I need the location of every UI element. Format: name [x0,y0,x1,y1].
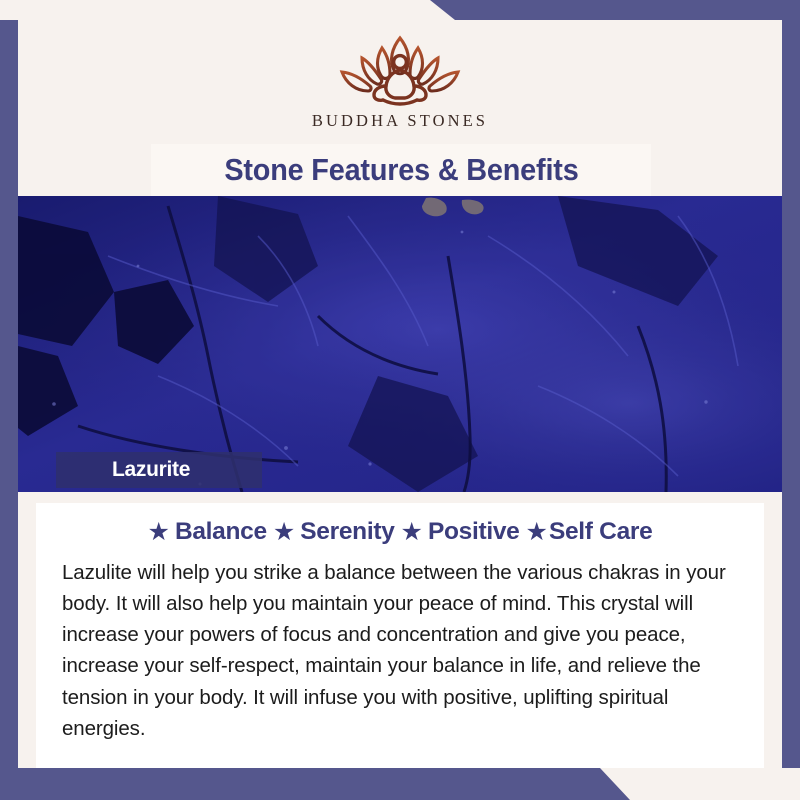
lazurite-texture-graphic [18,196,782,492]
keyword-list: ★ Balance ★ Serenity ★ Positive ★ Self C… [46,518,754,546]
page-title: Stone Features & Benefits [224,152,578,188]
corner-decoration-bottom-left [0,768,800,800]
stone-name-ribbon: Lazurite [56,452,262,488]
keyword-label: Positive [428,518,520,546]
keyword-item-self-care: ★ Self Care [526,518,653,546]
keyword-label: Balance [175,518,267,546]
frame-border-right [782,20,800,768]
keyword-item-balance: ★ Balance [148,518,267,546]
brand-wordmark: BUDDHA STONES [312,111,488,131]
star-icon: ★ [273,520,295,545]
star-icon: ★ [401,520,423,545]
hero-stone-image [18,196,782,492]
frame-border-left [0,20,18,768]
content-panel: ★ Balance ★ Serenity ★ Positive ★ Self C… [36,492,764,768]
poster-canvas: BUDDHA STONES Stone Features & Benefits [0,0,800,800]
keyword-label: Serenity [300,518,394,546]
lotus-meditation-figure-icon [332,28,468,110]
keyword-label: Self Care [549,518,653,546]
star-icon: ★ [148,520,170,545]
stone-name-label: Lazurite [112,458,190,482]
keyword-item-serenity: ★ Serenity [273,518,395,546]
stone-description: Lazulite will help you strike a balance … [46,557,754,744]
brand-logo-block: BUDDHA STONES [18,20,782,144]
keyword-item-positive: ★ Positive [401,518,520,546]
content-top-divider [36,492,764,503]
star-icon: ★ [526,520,548,545]
title-banner: Stone Features & Benefits [151,144,651,196]
corner-decoration-top-right [0,0,800,20]
poster-card: BUDDHA STONES Stone Features & Benefits [18,20,782,768]
